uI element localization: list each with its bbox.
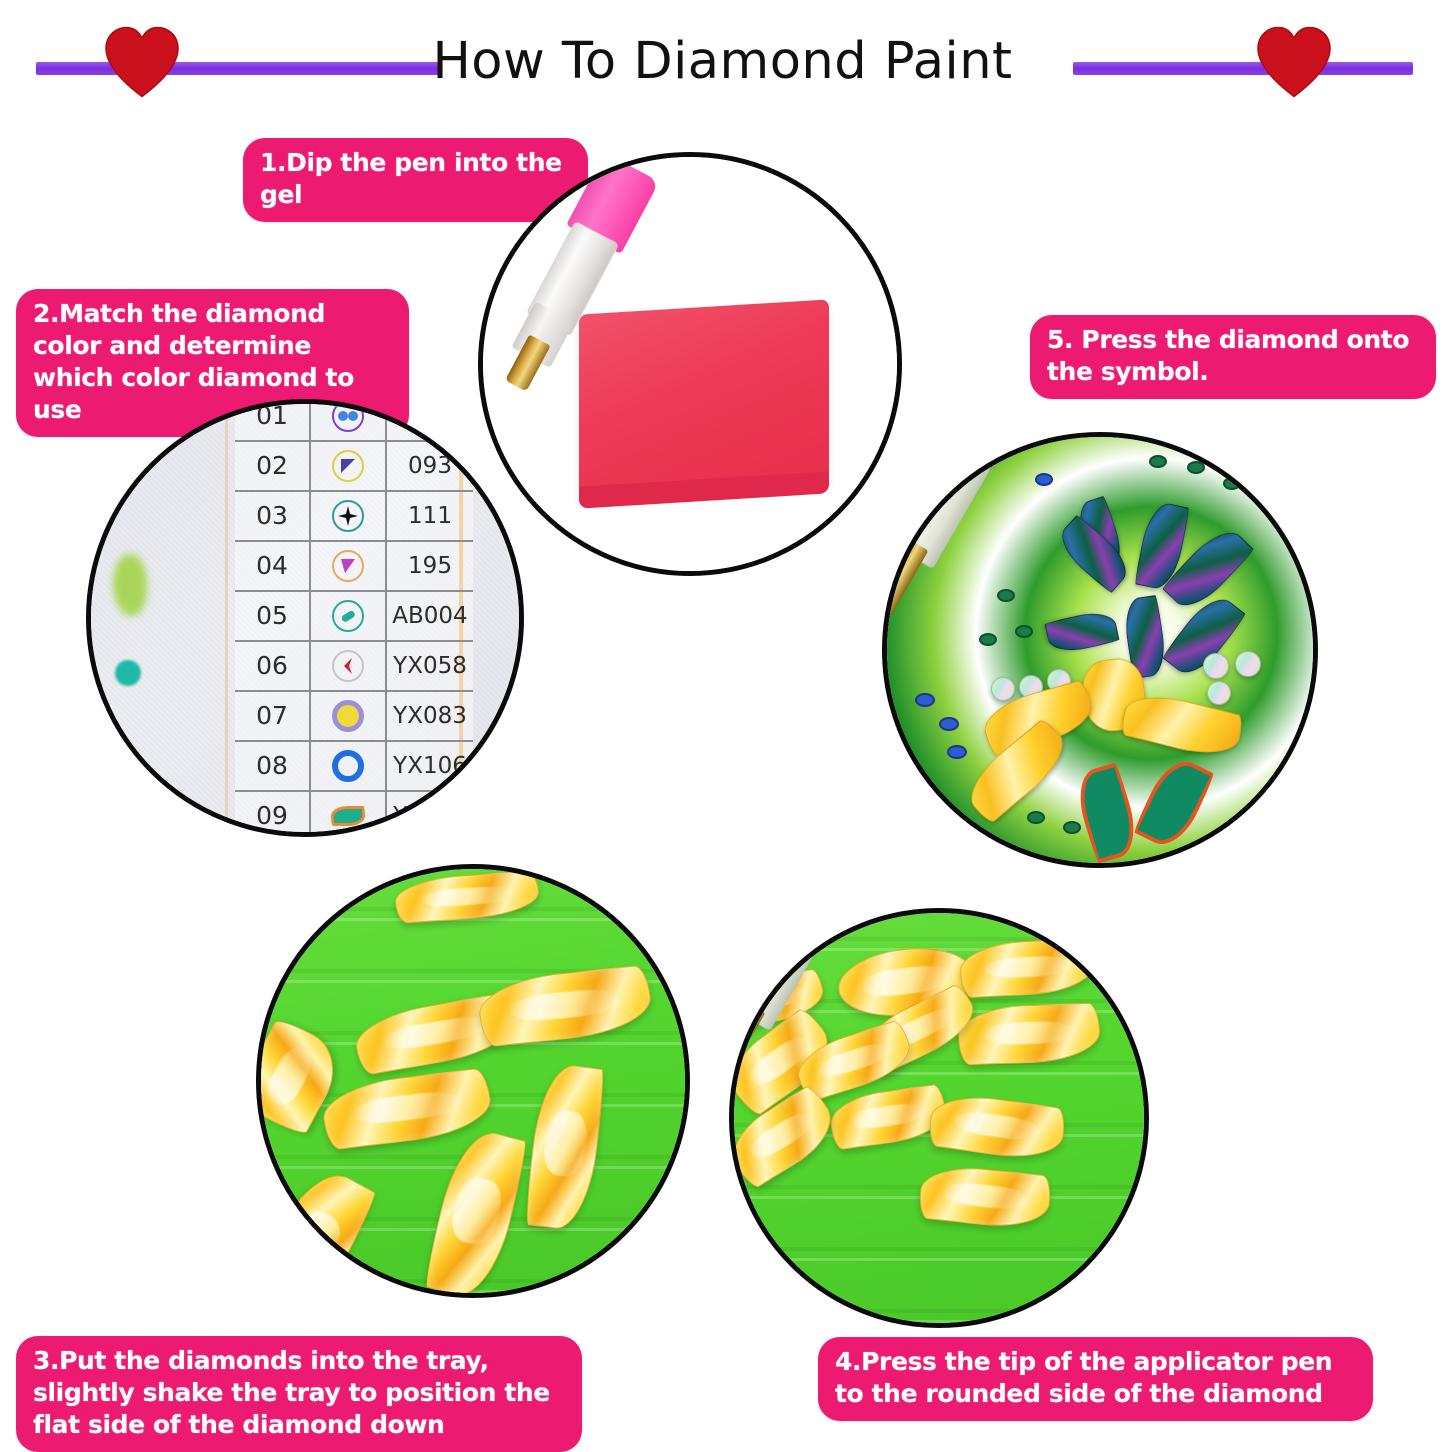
symbol-legend-table: 01 028 02	[235, 399, 473, 837]
page-header: How To Diamond Paint	[0, 0, 1445, 130]
canvas-symbol-dot	[939, 717, 959, 731]
canvas-symbol-dot	[1063, 821, 1081, 834]
row-number: 09	[235, 792, 311, 837]
printed-petal	[1071, 762, 1142, 864]
diamond	[422, 1125, 530, 1298]
canvas-symbol-dot	[1015, 625, 1033, 638]
canvas-symbol-dot	[1149, 455, 1167, 468]
step-4-label: 4.Press the tip of the applicator pen to…	[818, 1337, 1373, 1421]
row-number: 07	[235, 692, 311, 740]
triangle-symbol	[311, 442, 387, 490]
color-code: 028	[387, 399, 473, 440]
chevron-symbol	[311, 642, 387, 690]
table-row: 09 YX125	[235, 792, 473, 837]
pink-gel-block	[579, 299, 829, 494]
double-dot-symbol	[311, 399, 387, 440]
pen-tip	[882, 539, 929, 629]
row-number: 03	[235, 492, 311, 540]
color-code: YX083	[387, 692, 473, 740]
mandala-gem	[1044, 608, 1120, 656]
table-row: 05 AB004	[235, 592, 473, 642]
table-row: 01 028	[235, 399, 473, 442]
table-row: 04 195	[235, 542, 473, 592]
canvas-symbol-dot	[915, 693, 935, 707]
step-3-label: 3.Put the diamonds into the tray, slight…	[16, 1336, 582, 1452]
diamond	[927, 1090, 1067, 1164]
canvas-symbol-dot	[947, 745, 967, 759]
step-5-label: 5. Press the diamond onto the symbol.	[1030, 315, 1436, 399]
diamond	[523, 1062, 607, 1233]
mandala-round-gem	[991, 677, 1015, 701]
table-row: 07 YX083	[235, 692, 473, 742]
color-code: AB004	[387, 592, 473, 640]
canvas-symbol-dot	[1035, 473, 1053, 486]
table-row: 03 111	[235, 492, 473, 542]
diamond	[320, 1067, 495, 1151]
canvas-seam-line	[225, 404, 228, 837]
table-row: 08 YX106	[235, 742, 473, 792]
canvas-symbol-dot	[1223, 477, 1241, 490]
pen-gel-scene	[483, 157, 897, 571]
color-code: YX125	[387, 792, 473, 837]
row-number: 05	[235, 592, 311, 640]
green-tray-pickup-scene	[734, 913, 1144, 1323]
capsule-symbol	[311, 592, 387, 640]
mandala-round-gem	[1207, 681, 1231, 705]
leaf-symbol	[311, 792, 387, 837]
row-number: 04	[235, 542, 311, 590]
color-code: YX058	[387, 642, 473, 690]
applicator-pen	[882, 441, 995, 651]
teal-symbol-mark	[115, 660, 141, 686]
triangle-symbol	[311, 542, 387, 590]
printed-petal	[1132, 752, 1216, 853]
mandala-round-gem	[1203, 653, 1229, 679]
table-row: 06 YX058	[235, 642, 473, 692]
canvas-symbol-dot	[1187, 461, 1205, 474]
diamond	[256, 1161, 380, 1298]
diamond	[476, 964, 654, 1048]
diamond	[917, 1162, 1052, 1231]
diamond	[959, 938, 1096, 999]
color-code: 093	[387, 442, 473, 490]
table-row: 02 093	[235, 442, 473, 492]
row-number: 01	[235, 399, 311, 440]
row-number: 08	[235, 742, 311, 790]
ring-symbol	[311, 742, 387, 790]
page-title: How To Diamond Paint	[0, 26, 1445, 98]
symbol-chart-scene: 01 028 02	[91, 404, 519, 832]
green-paint-blob	[113, 554, 147, 616]
canvas-symbol-dot	[1027, 811, 1045, 824]
row-number: 06	[235, 642, 311, 690]
canvas-symbol-dot	[979, 633, 997, 646]
color-code: 195	[387, 542, 473, 590]
cross-symbol	[311, 492, 387, 540]
color-code: 111	[387, 492, 473, 540]
step-4-photo	[729, 908, 1149, 1328]
canvas-symbol-dot	[997, 589, 1015, 602]
disc-symbol	[311, 692, 387, 740]
color-code: YX106	[387, 742, 473, 790]
diamond	[394, 870, 541, 924]
green-tray-scene	[261, 869, 685, 1293]
step-2-photo: 01 028 02	[86, 399, 524, 837]
row-number: 02	[235, 442, 311, 490]
diamond	[957, 1003, 1101, 1066]
step-5-photo	[882, 432, 1318, 868]
mandala-canvas-scene	[887, 437, 1313, 863]
step-1-photo	[478, 152, 902, 576]
step-3-photo	[256, 864, 690, 1298]
mandala-round-gem	[1235, 651, 1261, 677]
